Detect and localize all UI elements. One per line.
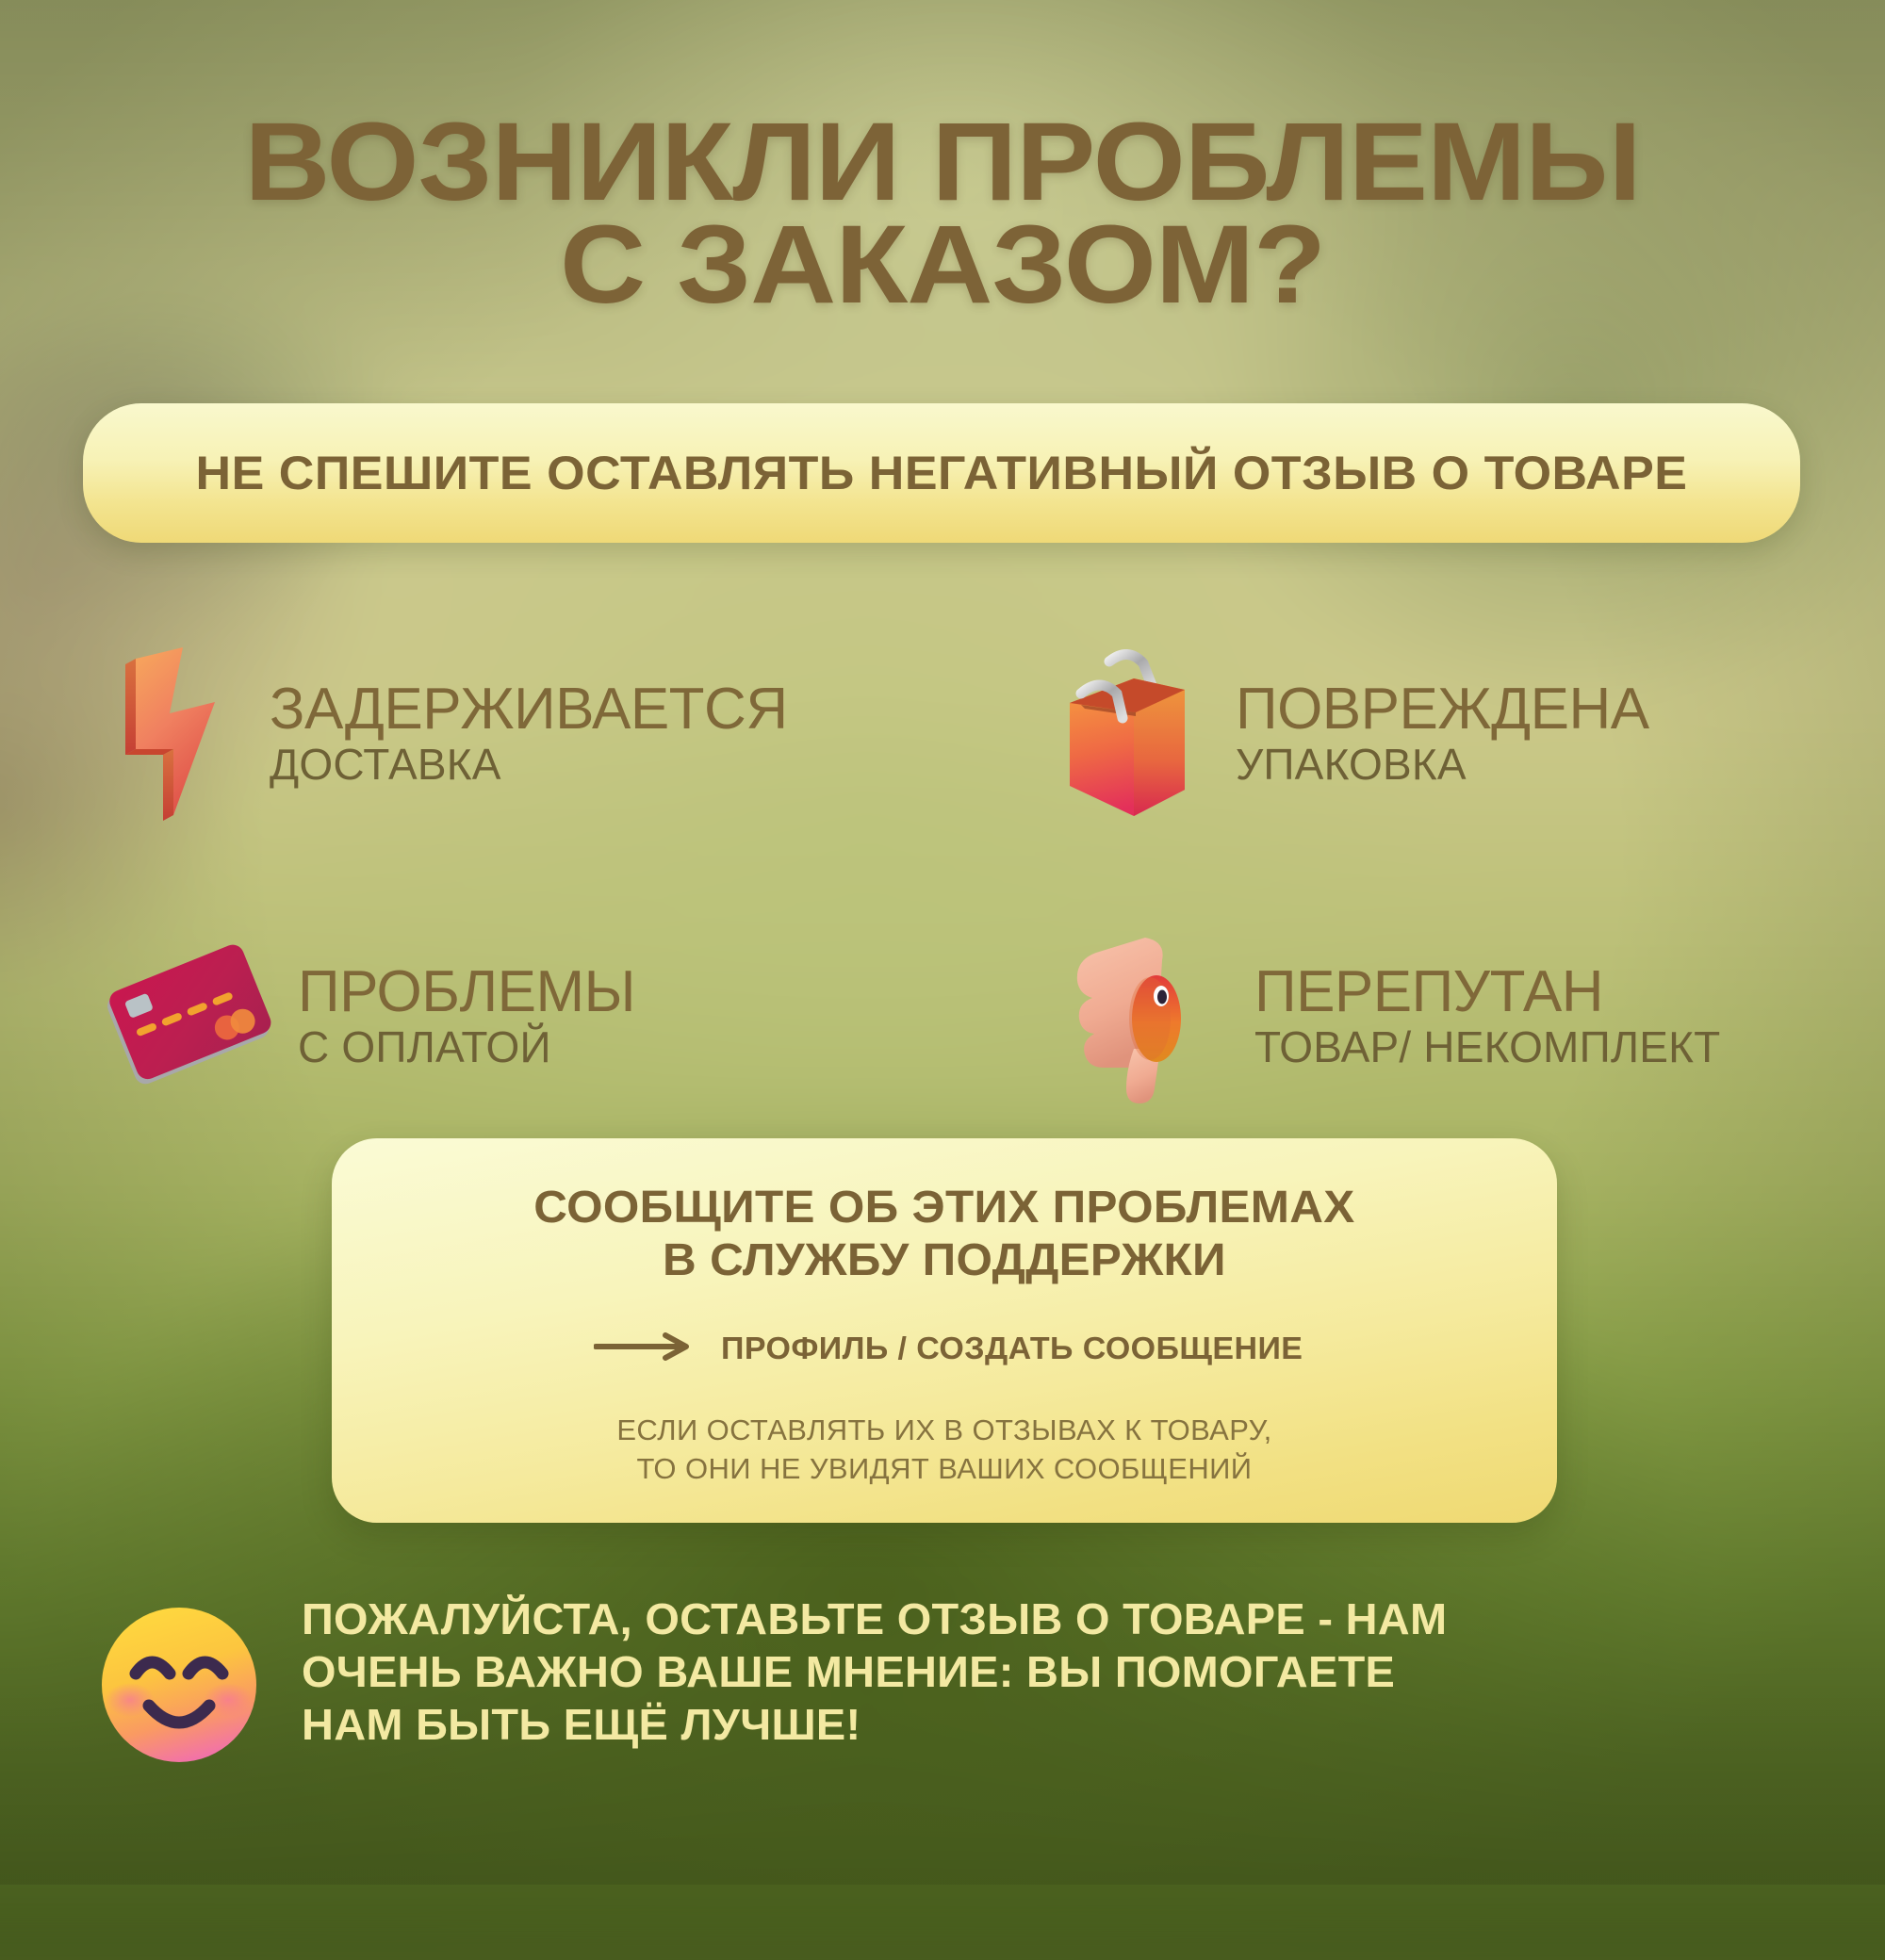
warning-banner-label: НЕ СПЕШИТЕ ОСТАВЛЯТЬ НЕГАТИВНЫЙ ОТЗЫВ О … bbox=[196, 446, 1688, 500]
issue-list: ЗАДЕРЖИВАЕТСЯ ДОСТАВКА bbox=[104, 594, 1800, 1159]
warning-banner: НЕ СПЕШИТЕ ОСТАВЛЯТЬ НЕГАТИВНЫЙ ОТЗЫВ О … bbox=[83, 403, 1800, 543]
issue-title: ПЕРЕПУТАН bbox=[1254, 963, 1720, 1021]
support-card: СООБЩИТЕ ОБ ЭТИХ ПРОБЛЕМАХ В СЛУЖБУ ПОДД… bbox=[332, 1138, 1557, 1523]
support-card-note: ЕСЛИ ОСТАВЛЯТЬ ИХ В ОТЗЫВАХ К ТОВАРУ, ТО… bbox=[616, 1412, 1271, 1489]
footer-message: ПОЖАЛУЙСТА, ОСТАВЬТЕ ОТЗЫВ О ТОВАРЕ - НА… bbox=[302, 1592, 1447, 1751]
issue-item-payment: ПРОБЛЕМЫ С ОПЛАТОЙ bbox=[104, 876, 947, 1159]
issue-item-text: ЗАДЕРЖИВАЕТСЯ ДОСТАВКА bbox=[270, 680, 788, 790]
support-title-line1: СООБЩИТЕ ОБ ЭТИХ ПРОБЛЕМАХ bbox=[533, 1183, 1354, 1233]
smiley-icon bbox=[94, 1598, 264, 1768]
issue-subtitle: С ОПЛАТОЙ bbox=[298, 1023, 635, 1072]
issue-subtitle: ДОСТАВКА bbox=[270, 741, 788, 790]
issue-item-text: ПОВРЕЖДЕНА УПАКОВКА bbox=[1236, 680, 1649, 790]
issue-item-package: ПОВРЕЖДЕНА УПАКОВКА bbox=[957, 594, 1800, 876]
issue-item-wrong-item: ПЕРЕПУТАН ТОВАР/ НЕКОМПЛЕКТ bbox=[957, 876, 1800, 1159]
arrow-right-icon bbox=[594, 1332, 694, 1365]
support-path-label: ПРОФИЛЬ / СОЗДАТЬ СООБЩЕНИЕ bbox=[721, 1331, 1303, 1366]
footer-line1: ПОЖАЛУЙСТА, ОСТАВЬТЕ ОТЗЫВ О ТОВАРЕ - НА… bbox=[302, 1594, 1447, 1643]
footer-line2: ОЧЕНЬ ВАЖНО ВАШЕ МНЕНИЕ: ВЫ ПОМОГАЕТЕ bbox=[302, 1645, 1447, 1698]
promo-poster: ВОЗНИКЛИ ПРОБЛЕМЫ С ЗАКАЗОМ? НЕ СПЕШИТЕ … bbox=[0, 0, 1885, 1885]
issue-title: ЗАДЕРЖИВАЕТСЯ bbox=[270, 680, 788, 739]
thumbs-down-icon bbox=[1041, 928, 1230, 1107]
page-title-line2: С ЗАКАЗОМ? bbox=[0, 214, 1885, 317]
issue-item-delivery: ЗАДЕРЖИВАЕТСЯ ДОСТАВКА bbox=[104, 594, 947, 876]
shopping-bag-icon bbox=[1041, 641, 1211, 829]
page-title: ВОЗНИКЛИ ПРОБЛЕМЫ С ЗАКАЗОМ? bbox=[0, 111, 1885, 316]
issue-item-text: ПРОБЛЕМЫ С ОПЛАТОЙ bbox=[298, 963, 635, 1072]
issue-title: ПРОБЛЕМЫ bbox=[298, 963, 635, 1021]
issue-subtitle: УПАКОВКА bbox=[1236, 741, 1649, 790]
support-path-row[interactable]: ПРОФИЛЬ / СОЗДАТЬ СООБЩЕНИЕ bbox=[594, 1331, 1294, 1366]
support-note-line2: ТО ОНИ НЕ УВИДЯТ ВАШИХ СООБЩЕНИЙ bbox=[616, 1450, 1271, 1489]
lightning-bolt-icon bbox=[104, 636, 245, 834]
footer-line3: НАМ БЫТЬ ЕЩЁ ЛУЧШЕ! bbox=[302, 1698, 1447, 1751]
footer-callout: ПОЖАЛУЙСТА, ОСТАВЬТЕ ОТЗЫВ О ТОВАРЕ - НА… bbox=[94, 1592, 1810, 1768]
support-title-line2: В СЛУЖБУ ПОДДЕРЖКИ bbox=[533, 1234, 1354, 1287]
issue-title: ПОВРЕЖДЕНА bbox=[1236, 680, 1649, 739]
issue-item-text: ПЕРЕПУТАН ТОВАР/ НЕКОМПЛЕКТ bbox=[1254, 963, 1720, 1072]
support-note-line1: ЕСЛИ ОСТАВЛЯТЬ ИХ В ОТЗЫВАХ К ТОВАРУ, bbox=[616, 1413, 1271, 1446]
credit-card-icon bbox=[104, 928, 273, 1107]
support-card-title: СООБЩИТЕ ОБ ЭТИХ ПРОБЛЕМАХ В СЛУЖБУ ПОДД… bbox=[533, 1182, 1354, 1287]
issue-subtitle: ТОВАР/ НЕКОМПЛЕКТ bbox=[1254, 1023, 1720, 1072]
